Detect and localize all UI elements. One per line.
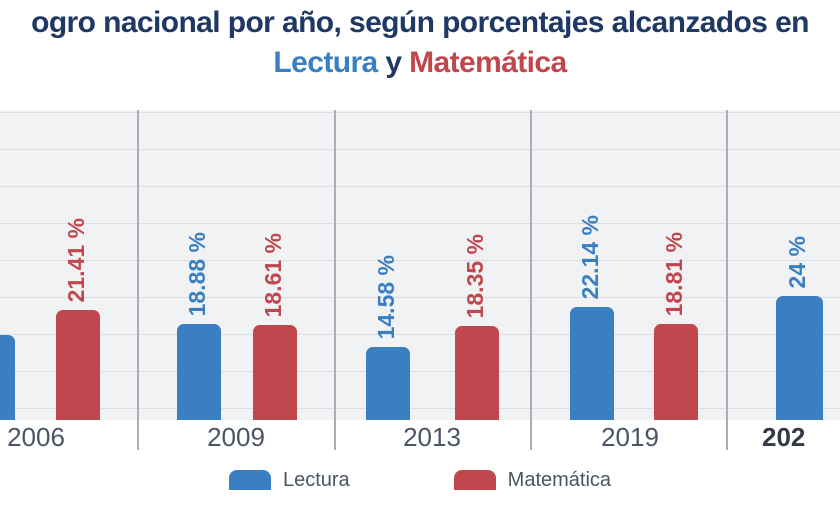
chart-plot-area: 21.41 % 18.88 % 18.61 % 14.58 % 18.35 % …	[0, 110, 840, 420]
gridline-horizontal	[0, 408, 840, 409]
gridline-horizontal	[0, 223, 840, 224]
bar-label-matematica-2019: 18.81 %	[663, 232, 686, 316]
x-axis-separator	[137, 420, 139, 450]
legend-item-lectura[interactable]: Lectura	[229, 469, 350, 492]
x-axis-separator	[530, 420, 532, 450]
bar-matematica-2009[interactable]	[253, 325, 297, 420]
bar-matematica-2019[interactable]	[654, 324, 698, 420]
bar-label-lectura-2024: 24 %	[786, 236, 809, 288]
chart-title-block: ogro nacional por año, según porcentajes…	[0, 0, 840, 100]
gridline-horizontal	[0, 260, 840, 261]
gridline-horizontal	[0, 334, 840, 335]
gridline-horizontal	[0, 371, 840, 372]
legend-label-matematica: Matemática	[508, 469, 611, 492]
legend-swatch-lectura-icon	[229, 470, 271, 490]
category-separator	[137, 110, 139, 420]
category-separator	[334, 110, 336, 420]
bar-lectura-2019[interactable]	[570, 307, 614, 420]
x-axis-tick-2024: 202	[762, 422, 840, 453]
bar-label-lectura-2009: 18.88 %	[186, 232, 209, 316]
chart-legend: Lectura Matemática	[0, 460, 840, 500]
legend-swatch-matematica-icon	[454, 470, 496, 490]
gridline-horizontal	[0, 112, 840, 113]
bar-matematica-2006[interactable]	[56, 310, 100, 420]
chart-title-conjunction: y	[378, 46, 410, 79]
x-axis-tick-2019: 2019	[566, 422, 694, 453]
bar-label-lectura-2013: 14.58 %	[375, 255, 398, 339]
bar-lectura-2013[interactable]	[366, 347, 410, 420]
bar-label-matematica-2006: 21.41 %	[65, 218, 88, 302]
x-axis-tick-2013: 2013	[368, 422, 496, 453]
chart-title-line-2: Lectura y Matemática	[273, 46, 566, 80]
gridline-horizontal	[0, 297, 840, 298]
legend-label-lectura: Lectura	[283, 469, 350, 492]
category-separator	[726, 110, 728, 420]
category-separator	[530, 110, 532, 420]
bar-label-lectura-2019: 22.14 %	[579, 215, 602, 299]
x-axis-tick-2006: 2006	[0, 422, 100, 453]
gridline-horizontal	[0, 149, 840, 150]
chart-title-matematica: Matemática	[409, 46, 566, 79]
chart-title-line-1: ogro nacional por año, según porcentajes…	[31, 6, 809, 40]
legend-item-matematica[interactable]: Matemática	[454, 469, 611, 492]
bar-label-matematica-2013: 18.35 %	[464, 234, 487, 318]
bar-lectura-2009[interactable]	[177, 324, 221, 420]
gridline-horizontal	[0, 186, 840, 187]
bar-lectura-2006[interactable]	[0, 335, 15, 420]
bar-matematica-2013[interactable]	[455, 326, 499, 420]
bar-label-matematica-2009: 18.61 %	[262, 233, 285, 317]
x-axis: 2006 2009 2013 2019 202	[0, 420, 840, 458]
x-axis-tick-2009: 2009	[172, 422, 300, 453]
chart-title-lectura: Lectura	[273, 46, 377, 79]
bar-lectura-2024[interactable]	[776, 296, 823, 420]
x-axis-separator	[334, 420, 336, 450]
x-axis-separator	[726, 420, 728, 450]
